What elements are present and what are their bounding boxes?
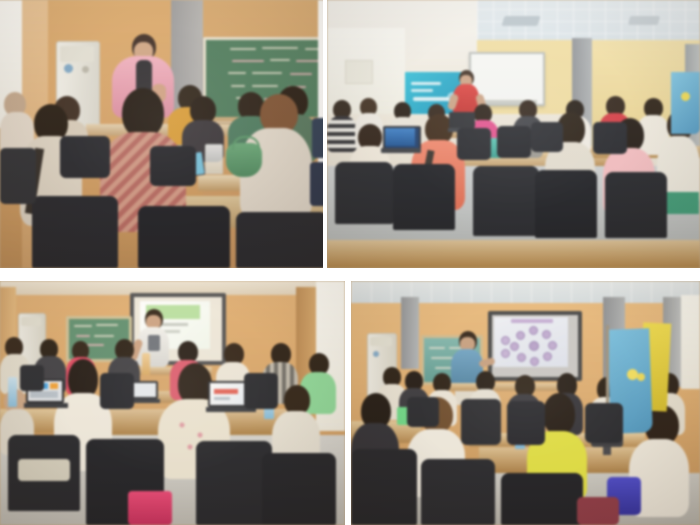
- chair: [32, 196, 118, 268]
- chair: [244, 373, 278, 409]
- diagram-node: [501, 349, 510, 358]
- diagram-node-center: [529, 341, 539, 351]
- collage-photo-top-left[interactable]: [0, 0, 323, 268]
- diagram-node: [510, 342, 519, 351]
- diagram-node: [529, 326, 538, 335]
- chair: [535, 170, 597, 238]
- chair: [0, 148, 36, 204]
- chair-far: [312, 118, 323, 158]
- ceiling-vent: [501, 16, 540, 26]
- laptop: [383, 126, 421, 154]
- chair: [196, 441, 272, 525]
- table-front: [445, 383, 565, 391]
- chair: [605, 172, 667, 238]
- chair: [501, 473, 583, 525]
- collage-photo-bottom-left[interactable]: [0, 281, 345, 525]
- table-foreground: [327, 236, 700, 268]
- chair: [138, 206, 230, 268]
- diagram-node: [548, 341, 557, 350]
- chair: [421, 459, 495, 525]
- diagram-node: [501, 336, 510, 345]
- pillar-left: [401, 297, 419, 369]
- flag-blue: [671, 72, 700, 134]
- chair: [593, 122, 627, 154]
- chair: [497, 126, 531, 158]
- diagram-node: [517, 353, 526, 362]
- diagram-node: [530, 357, 539, 366]
- chair: [473, 166, 539, 236]
- chair-far: [310, 162, 323, 206]
- drinking-glass: [205, 144, 223, 174]
- ceiling-vent: [628, 16, 660, 25]
- slide-header-bar: [511, 319, 553, 323]
- water-bottle: [142, 353, 150, 375]
- diagram-node: [516, 331, 525, 340]
- chair: [20, 365, 44, 391]
- chair: [407, 397, 439, 427]
- chair: [335, 162, 393, 224]
- water-bottle: [8, 377, 17, 407]
- chair: [585, 403, 623, 443]
- presenter: [134, 309, 174, 371]
- chair: [457, 128, 491, 160]
- collage-photo-top-right[interactable]: [327, 0, 700, 268]
- chair: [507, 401, 545, 445]
- chair: [461, 399, 501, 445]
- bag-maroon: [577, 497, 619, 525]
- chair: [100, 373, 134, 409]
- chair: [351, 449, 417, 525]
- flag-emblem: [637, 373, 645, 381]
- chair: [150, 146, 196, 186]
- bag-pink: [128, 491, 172, 525]
- chair: [236, 212, 323, 268]
- diagram-node: [543, 352, 552, 361]
- chair: [393, 164, 455, 230]
- chair: [531, 122, 563, 152]
- photo-collage: [0, 0, 700, 525]
- diagram-node: [542, 330, 551, 339]
- chair: [60, 136, 110, 178]
- collage-photo-bottom-right[interactable]: [351, 281, 700, 525]
- chair: [262, 453, 336, 525]
